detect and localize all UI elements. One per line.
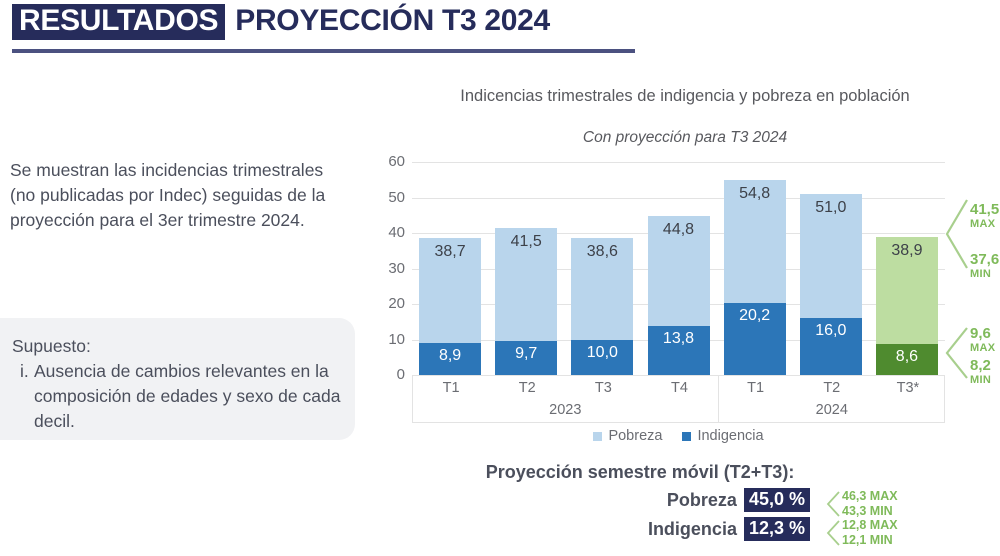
bar-label-indigencia: 8,9: [419, 347, 481, 365]
y-axis-tick-label: 30: [375, 260, 405, 277]
bar-group[interactable]: 38,610,0: [571, 238, 633, 375]
legend-label-pobreza: Pobreza: [608, 428, 662, 444]
page-header: RESULTADOS PROYECCIÓN T3 2024: [0, 0, 1000, 60]
bar-group[interactable]: 41,59,7: [495, 228, 557, 375]
y-axis-tick-label: 0: [375, 366, 405, 383]
bar-label-indigencia: 20,2: [724, 307, 786, 325]
summary-indigencia-min: 12,1 MIN: [842, 533, 898, 548]
summary-row-indigencia: Indigencia 12,3 %: [470, 517, 810, 541]
gridline: [412, 162, 945, 163]
annotation-indigencia-min-tag: MIN: [970, 374, 991, 387]
y-axis-tick-label: 20: [375, 295, 405, 312]
chart-panel: Indicencias trimestrales de indigencia y…: [370, 78, 1000, 458]
bar-label-pobreza: 51,0: [800, 199, 862, 217]
x-axis-tick-label: T1: [719, 380, 793, 396]
range-bracket-indigencia-icon: [943, 326, 969, 380]
annotation-pobreza-min-tag: MIN: [970, 268, 999, 281]
bar-label-pobreza: 44,8: [648, 221, 710, 239]
summary-label-indigencia: Indigencia: [648, 519, 737, 540]
page-title: RESULTADOS PROYECCIÓN T3 2024: [12, 4, 550, 40]
x-axis-tick-label: T4: [643, 380, 717, 396]
annotation-pobreza-max-tag: MAX: [970, 218, 999, 231]
x-axis-tick-label: T1: [414, 380, 488, 396]
summary-pobreza-min: 43,3 MIN: [842, 504, 898, 519]
bar-label-pobreza: 38,6: [571, 243, 633, 261]
page-title-rest: PROYECCIÓN T3 2024: [235, 6, 550, 36]
bar-label-pobreza: 41,5: [495, 233, 557, 251]
summary-annotation-indigencia: 12,8 MAX 12,1 MIN: [842, 518, 898, 548]
annotation-pobreza-max-value: 41,5: [970, 202, 999, 218]
annotation-indigencia-min: 8,2 MIN: [970, 358, 991, 387]
header-divider: [12, 49, 635, 53]
chart-x-axis: T1T2T3T4T1T2T3*20232024: [412, 375, 945, 423]
bar-group[interactable]: 54,820,2: [724, 180, 786, 375]
y-axis-tick-label: 10: [375, 331, 405, 348]
annotation-indigencia-max: 9,6 MAX: [970, 326, 995, 355]
list-item-text: Ausencia de cambios relevantes en la com…: [34, 359, 343, 434]
legend-swatch-pobreza: [593, 432, 602, 441]
supuesto-callout: Supuesto: i. Ausencia de cambios relevan…: [0, 318, 355, 440]
legend-item-indigencia: Indigencia: [682, 428, 763, 444]
y-axis-tick-label: 60: [375, 153, 405, 170]
x-axis-group-label: 2023: [413, 402, 718, 418]
chart-title: Indicencias trimestrales de indigencia y…: [400, 86, 970, 107]
annotation-pobreza-min-value: 37,6: [970, 252, 999, 268]
range-bracket-summary-pobreza-icon: [825, 490, 841, 518]
x-axis-group-label: 2024: [718, 402, 946, 418]
x-axis-tick-label: T2: [795, 380, 869, 396]
list-item-marker: i.: [20, 359, 34, 434]
projection-summary: Proyección semestre móvil (T2+T3): Pobre…: [470, 462, 1000, 556]
summary-row-pobreza: Pobreza 45,0 %: [470, 488, 810, 512]
chart-plot-area: 0102030405060 38,78,941,59,738,610,044,8…: [412, 162, 945, 375]
annotation-pobreza-max: 41,5 MAX: [970, 202, 999, 231]
supuesto-list: i. Ausencia de cambios relevantes en la …: [12, 359, 343, 434]
bar-label-indigencia: 8,6: [876, 348, 938, 366]
annotation-indigencia-max-value: 9,6: [970, 326, 995, 342]
summary-label-pobreza: Pobreza: [667, 490, 737, 511]
chart-subtitle: Con proyección para T3 2024: [400, 129, 970, 147]
summary-pobreza-max: 46,3 MAX: [842, 489, 898, 504]
bar-group[interactable]: 38,98,6: [876, 237, 938, 375]
bar-label-indigencia: 10,0: [571, 344, 633, 362]
summary-annotation-pobreza: 46,3 MAX 43,3 MIN: [842, 489, 898, 519]
annotation-pobreza-min: 37,6 MIN: [970, 252, 999, 281]
page-title-highlight: RESULTADOS: [12, 4, 225, 40]
x-axis-tick-label: T3: [566, 380, 640, 396]
bar-label-pobreza: 38,9: [876, 242, 938, 260]
legend-swatch-indigencia: [682, 432, 691, 441]
annotation-indigencia-min-value: 8,2: [970, 358, 991, 374]
range-bracket-pobreza-icon: [943, 198, 969, 270]
list-item: i. Ausencia de cambios relevantes en la …: [12, 359, 343, 434]
annotation-indigencia-max-tag: MAX: [970, 342, 995, 355]
chart-legend: Pobreza Indigencia: [412, 428, 945, 444]
x-axis-tick-label: T2: [490, 380, 564, 396]
y-axis-tick-label: 50: [375, 189, 405, 206]
y-axis-tick-label: 40: [375, 224, 405, 241]
legend-item-pobreza: Pobreza: [593, 428, 662, 444]
bar-label-indigencia: 9,7: [495, 345, 557, 363]
legend-label-indigencia: Indigencia: [697, 428, 763, 444]
supuesto-title: Supuesto:: [12, 334, 343, 359]
bar-label-indigencia: 13,8: [648, 330, 710, 348]
intro-paragraph: Se muestran las incidencias trimestrales…: [10, 158, 330, 233]
gridline: [412, 198, 945, 199]
bar-label-pobreza: 38,7: [419, 243, 481, 261]
x-axis-tick-label: T3*: [871, 380, 945, 396]
summary-value-pobreza: 45,0 %: [744, 488, 810, 512]
bar-label-pobreza: 54,8: [724, 185, 786, 203]
summary-value-indigencia: 12,3 %: [744, 517, 810, 541]
bar-group[interactable]: 44,813,8: [648, 216, 710, 375]
range-bracket-summary-indigencia-icon: [825, 519, 841, 547]
projection-summary-title: Proyección semestre móvil (T2+T3):: [470, 462, 810, 483]
summary-indigencia-max: 12,8 MAX: [842, 518, 898, 533]
bar-group[interactable]: 38,78,9: [419, 238, 481, 375]
bar-label-indigencia: 16,0: [800, 322, 862, 340]
bar-group[interactable]: 51,016,0: [800, 194, 862, 375]
